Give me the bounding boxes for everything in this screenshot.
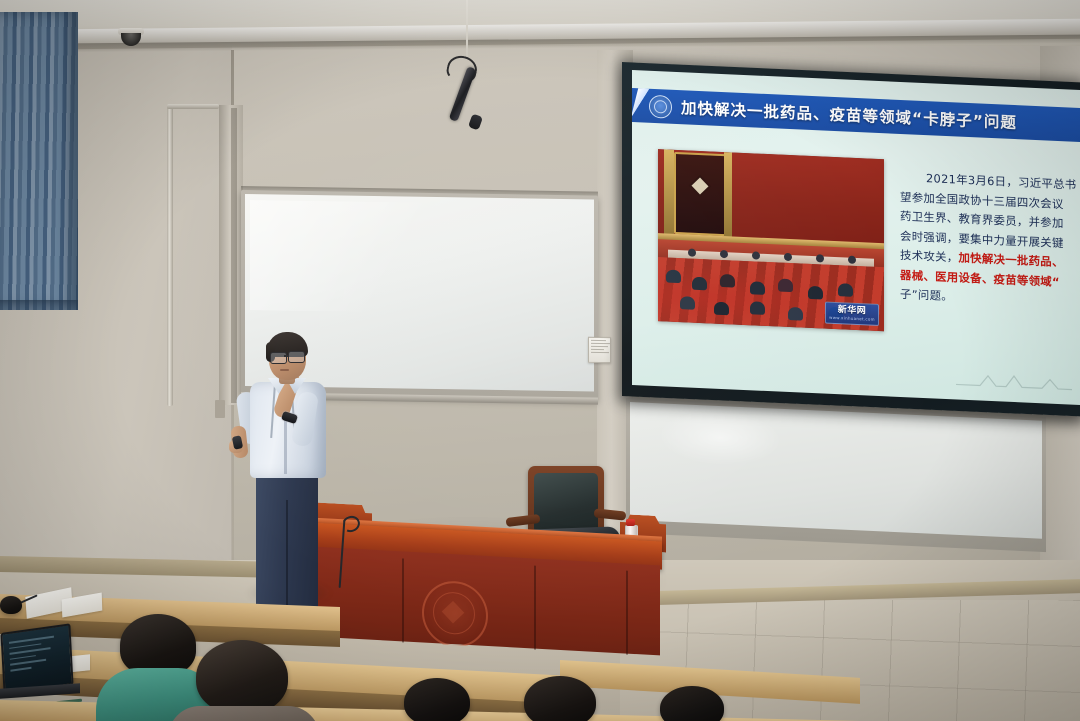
slide-title-bar: 加快解决一批药品、疫苗等领域“卡脖子”问题 <box>632 88 1080 142</box>
podium-panel-groove <box>626 571 628 657</box>
audience-shoulders <box>168 706 320 721</box>
slide-title-accent <box>632 88 650 122</box>
wall-conduit-pipe <box>167 104 219 109</box>
slide-photo-attendee <box>666 270 681 284</box>
audience-head <box>196 640 288 714</box>
eyeglasses-icon <box>284 355 289 357</box>
wall-junction-box <box>215 400 225 418</box>
slide-photo-attendee <box>692 277 707 291</box>
audience-head <box>0 596 22 614</box>
xinhua-watermark-url: www.xinhuanet.com <box>829 314 875 322</box>
slide-photo: 新华网 www.xinhuanet.com <box>658 149 884 331</box>
wall-conduit-pipe <box>167 106 173 406</box>
xinhua-watermark: 新华网 www.xinhuanet.com <box>825 302 879 326</box>
audience-head <box>524 676 596 721</box>
slide-photo-gold-pillar <box>664 149 674 235</box>
university-emblem-icon <box>649 94 672 118</box>
slide-photo-delegate <box>816 254 824 262</box>
slide-photo-attendee <box>778 279 793 293</box>
whiteboard-glare <box>250 200 450 313</box>
speaker-mouth <box>280 369 289 371</box>
slide-body-line: 加快解决一批药品、 <box>958 251 1063 270</box>
posted-notice <box>588 337 611 363</box>
slide-photo-delegate <box>752 251 760 259</box>
slide-body-text: 2021年3月6日，习近平总书望参加全国政协十三届四次会议药卫生界、教育界委员，… <box>900 168 1080 314</box>
slide-photo-attendee <box>750 281 765 295</box>
podium-panel-groove <box>534 566 536 656</box>
whiteboard-lower-glare <box>660 408 780 467</box>
wall-niche-shadow <box>231 108 237 403</box>
laptop-screen-content <box>9 635 63 676</box>
microphone-cable <box>466 0 468 58</box>
slide-photo-attendee <box>680 296 695 310</box>
slide-photo-attendee <box>808 286 823 300</box>
slide-photo-emblem-panel <box>674 152 726 236</box>
institution-seal-emblem <box>422 579 488 649</box>
slide-photo-delegate <box>784 253 792 261</box>
presentation-slide: 加快解决一批药品、疫苗等领域“卡脖子”问题 <box>632 70 1080 405</box>
slide-photo-attendee <box>788 307 803 321</box>
slide-photo-attendee <box>720 274 735 288</box>
speaker-trousers-seam <box>286 500 288 615</box>
slide-brand-squiggle <box>954 369 1074 392</box>
slide-photo-delegate <box>848 256 856 264</box>
water-bottle-cap <box>626 519 635 526</box>
slide-photo-attendee <box>838 283 853 297</box>
slide-title: 加快解决一批药品、疫苗等领域“卡脖子”问题 <box>681 96 1017 133</box>
slide-photo-delegate <box>688 248 696 256</box>
slide-photo-gold-pillar <box>724 152 732 238</box>
slide-photo-attendee <box>750 301 765 315</box>
audience-head <box>404 678 470 721</box>
window-curtain-hem <box>0 300 78 310</box>
slide-body-highlight: 加快解决一批药品、 <box>958 251 1063 270</box>
slide-body-line: 技术攻关， <box>900 248 958 265</box>
slide-photo-attendee <box>714 302 729 316</box>
audience-head <box>120 614 196 676</box>
eyeglasses-icon <box>288 351 305 363</box>
slide-photo-delegate <box>720 250 728 258</box>
eyeglasses-icon <box>270 352 287 364</box>
lecture-hall-photo: 加快解决一批药品、疫苗等领域“卡脖子”问题 <box>0 0 1080 721</box>
window-curtain <box>0 12 78 310</box>
podium-panel-groove <box>402 558 404 648</box>
